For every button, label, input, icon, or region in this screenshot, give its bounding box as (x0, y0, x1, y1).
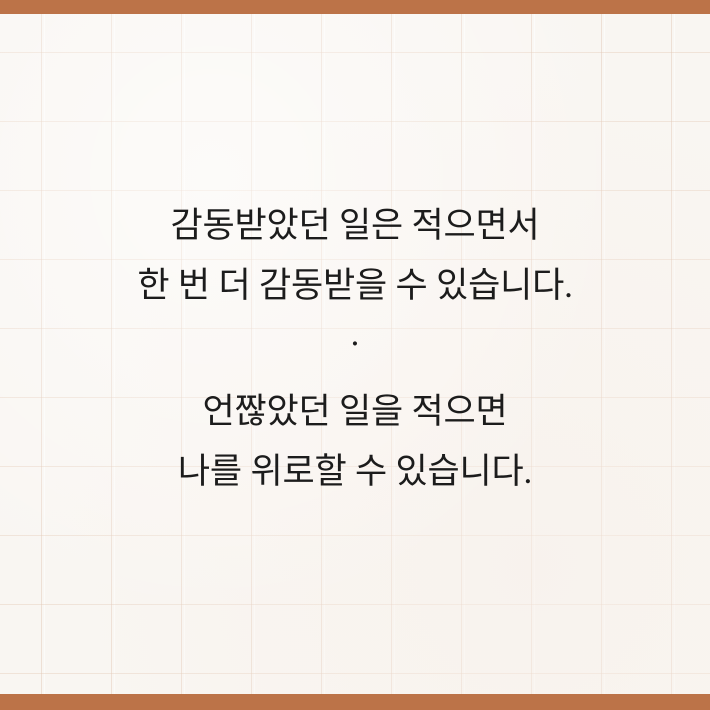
quote-line-4: 나를 위로할 수 있습니다. (0, 442, 710, 502)
top-accent-band (0, 0, 710, 14)
quote-separator-dot: · (0, 316, 710, 372)
quote-text-block: 감동받았던 일은 적으면서 한 번 더 감동받을 수 있습니다. · 언짢았던 … (0, 196, 710, 502)
bottom-accent-band (0, 694, 710, 710)
quote-line-2: 한 번 더 감동받을 수 있습니다. (0, 256, 710, 316)
quote-spacer (0, 372, 710, 382)
quote-line-1: 감동받았던 일은 적으면서 (0, 196, 710, 256)
quote-card: 감동받았던 일은 적으면서 한 번 더 감동받을 수 있습니다. · 언짢았던 … (0, 0, 710, 710)
quote-line-3: 언짢았던 일을 적으면 (0, 382, 710, 442)
